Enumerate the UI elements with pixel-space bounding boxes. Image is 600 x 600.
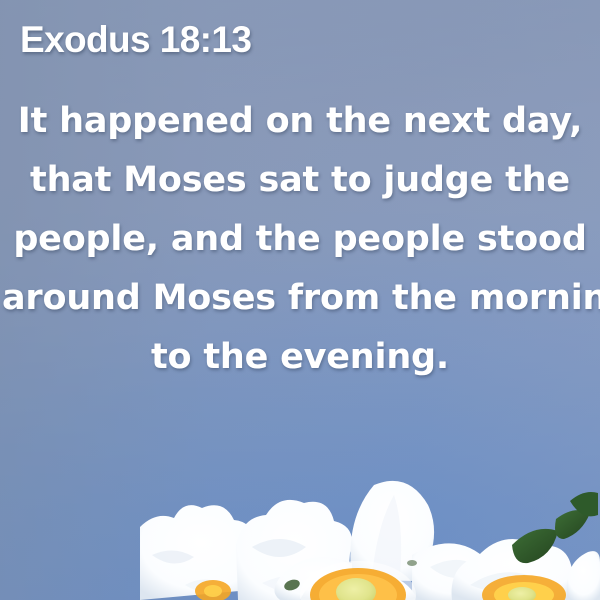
verse-card: Exodus 18:13 It happened on the next day…: [0, 0, 600, 600]
leaf-cluster: [512, 492, 598, 563]
verse-line: that Moses sat to judge the: [2, 151, 598, 210]
verse-line: around Moses from the morning: [2, 269, 598, 328]
verse-text-block: It happened on the next day, that Moses …: [0, 92, 600, 387]
flower-photo-foreground: [0, 435, 600, 600]
flower-upper-left: [236, 500, 352, 600]
flower-specks: [283, 560, 417, 592]
flower-left-small: [140, 505, 262, 600]
flower-main: [274, 481, 497, 600]
flower-right: [452, 539, 579, 600]
verse-line: It happened on the next day,: [2, 92, 598, 151]
verse-line: to the evening.: [2, 328, 598, 387]
page-title: Exodus 18:13: [20, 19, 251, 61]
flower-far-right: [567, 551, 600, 600]
verse-line: people, and the people stood: [2, 210, 598, 269]
